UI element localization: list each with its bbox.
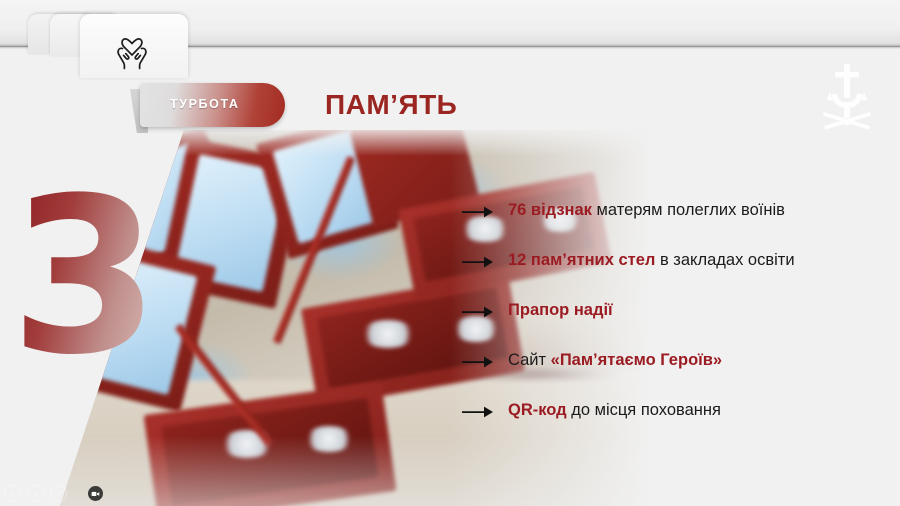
arrow-right-icon xyxy=(462,254,496,270)
list-item: Сайт «Пам’ятаємо Героїв» xyxy=(462,350,892,400)
presentation-slide: 3 ТУРБОТА ПАМ’ЯТЬ 76 відзнак матерям пол… xyxy=(0,0,900,506)
tab-card-stack xyxy=(28,14,228,60)
list-item-text: 12 пам’ятних стел в закладах освіти xyxy=(508,250,795,270)
item-highlight: 12 пам’ятних стел xyxy=(508,251,655,269)
list-item: Прапор надії xyxy=(462,300,892,350)
rewind-10-icon[interactable] xyxy=(4,485,21,502)
bullet-list: 76 відзнак матерям полеглих воїнів 12 па… xyxy=(462,200,892,450)
forward-icon[interactable] xyxy=(50,485,67,502)
arrow-right-icon xyxy=(462,404,496,420)
item-highlight: QR-код xyxy=(508,401,567,419)
page-title: ПАМ’ЯТЬ xyxy=(325,89,457,121)
arrow-right-icon xyxy=(462,354,496,370)
item-highlight: Прапор надії xyxy=(508,301,613,319)
list-item-text: 76 відзнак матерям полеглих воїнів xyxy=(508,200,785,220)
list-item-text: QR-код до місця поховання xyxy=(508,400,721,420)
item-rest: в закладах освіти xyxy=(655,251,794,269)
arrow-right-icon xyxy=(462,204,496,220)
item-lead: Сайт xyxy=(508,351,551,369)
list-item: QR-код до місця поховання xyxy=(462,400,892,450)
video-player-controls[interactable] xyxy=(4,485,67,502)
list-item-text: Прапор надії xyxy=(508,300,613,320)
hands-holding-heart-icon xyxy=(108,26,156,70)
play-icon[interactable] xyxy=(27,485,44,502)
item-rest: матерям полеглих воїнів xyxy=(592,201,785,219)
badge-label: ТУРБОТА xyxy=(170,97,240,111)
section-badge[interactable]: ТУРБОТА xyxy=(130,83,285,127)
arrow-right-icon xyxy=(462,304,496,320)
section-number: 3 xyxy=(10,182,154,372)
list-item: 12 пам’ятних стел в закладах освіти xyxy=(462,250,892,300)
video-camera-icon[interactable] xyxy=(88,486,103,501)
item-highlight: «Пам’ятаємо Героїв» xyxy=(551,351,722,369)
naval-anchor-trident-emblem-icon xyxy=(816,62,878,134)
list-item-text: Сайт «Пам’ятаємо Героїв» xyxy=(508,350,722,370)
item-rest: до місця поховання xyxy=(567,401,721,419)
item-highlight: 76 відзнак xyxy=(508,201,592,219)
list-item: 76 відзнак матерям полеглих воїнів xyxy=(462,200,892,250)
